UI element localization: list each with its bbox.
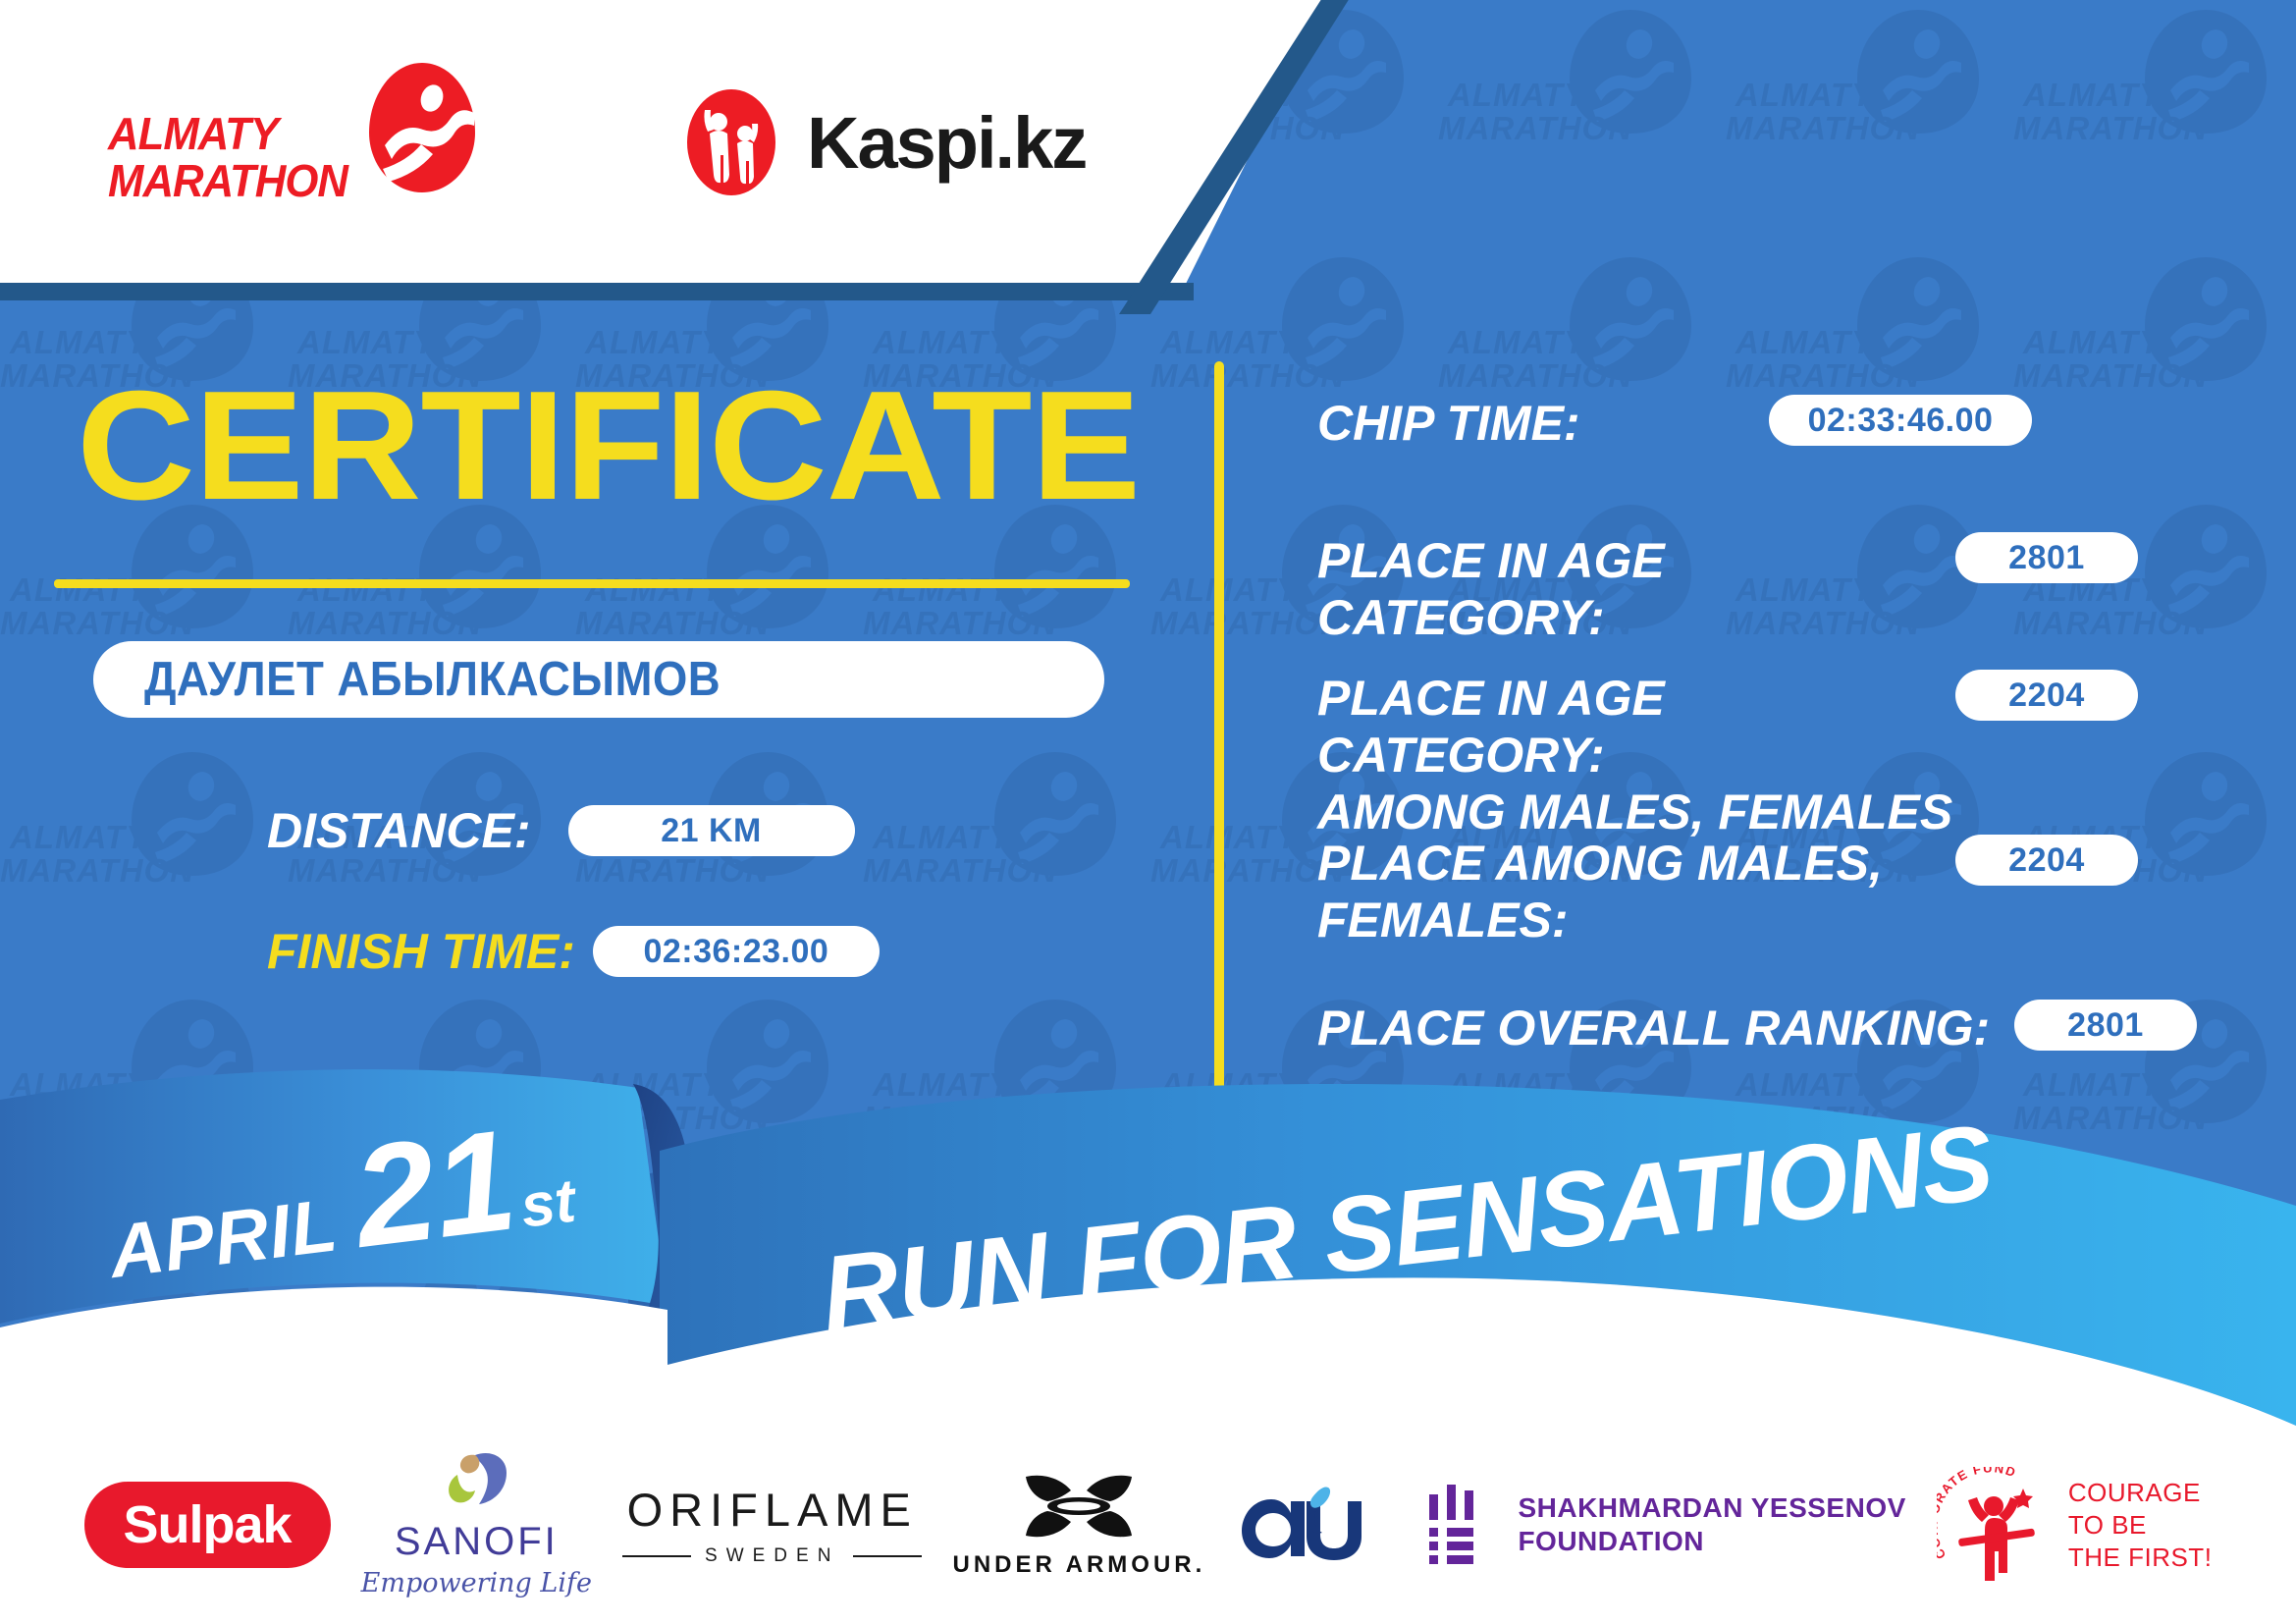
sanofi-tagline: Empowering Life: [361, 1568, 592, 1598]
sponsor-under-armour: UNDER ARMOUR.: [953, 1471, 1206, 1579]
courage-wordmark: COURAGE TO BE THE FIRST!: [2068, 1477, 2213, 1574]
place-age-category-value: 2801: [1955, 532, 2138, 583]
page-title: CERTIFICATE: [77, 368, 1140, 523]
title-underline: [54, 579, 1130, 588]
event-day: 21: [347, 1108, 522, 1270]
under-armour-icon: [1018, 1471, 1140, 1545]
distance-value: 21 KM: [568, 805, 855, 856]
oriflame-rule-right: [853, 1555, 922, 1557]
finish-time-row: FINISH TIME: 02:36:23.00: [267, 923, 880, 980]
yessenov-mark-icon: [1423, 1483, 1494, 1567]
event-day-suffix: st: [517, 1166, 579, 1242]
participant-name-field: ДАУЛЕТ АБЫЛКАСЫМОВ: [93, 641, 1104, 718]
sponsor-yessenov: SHAKHMARDAN YESSENOV FOUNDATION: [1423, 1483, 1905, 1567]
sanofi-bird-icon: [436, 1451, 516, 1516]
place-age-category-among-row: PLACE IN AGE CATEGORY: AMONG MALES, FEMA…: [1317, 670, 2138, 840]
asu-logo-icon: [1236, 1486, 1393, 1564]
place-overall-ranking-value: 2801: [2014, 1000, 2197, 1051]
oriflame-rule-left: [622, 1555, 691, 1557]
place-age-category-label: PLACE IN AGE CATEGORY:: [1317, 532, 1955, 646]
under-armour-wordmark: UNDER ARMOUR.: [953, 1551, 1206, 1579]
place-among-males-females-value: 2204: [1955, 835, 2138, 886]
place-overall-ranking-row: PLACE OVERALL RANKING: 2801: [1317, 1000, 2197, 1056]
distance-row: DISTANCE: 21 KM: [267, 802, 855, 859]
distance-label: DISTANCE:: [267, 802, 531, 859]
sulpak-logo: Sulpak: [84, 1482, 331, 1568]
chip-time-value: 02:33:46.00: [1769, 395, 2032, 446]
place-among-males-females-label: PLACE AMONG MALES, FEMALES:: [1317, 835, 1955, 948]
place-among-males-females-row: PLACE AMONG MALES, FEMALES: 2204: [1317, 835, 2138, 948]
sponsor-sanofi: SANOFI Empowering Life: [361, 1451, 592, 1598]
courage-runner-icon: CORPORATE FUND: [1937, 1467, 2053, 1583]
place-age-category-among-value: 2204: [1955, 670, 2138, 721]
oriflame-country: SWEDEN: [705, 1545, 839, 1567]
sponsor-asu: [1236, 1486, 1393, 1564]
yessenov-wordmark: SHAKHMARDAN YESSENOV FOUNDATION: [1518, 1491, 1905, 1558]
finish-time-label: FINISH TIME:: [267, 923, 575, 980]
chip-time-row: CHIP TIME: 02:33:46.00: [1317, 395, 2032, 452]
sponsor-oriflame: ORIFLAME SWEDEN: [622, 1483, 922, 1567]
oriflame-subline: SWEDEN: [622, 1545, 922, 1567]
column-divider: [1214, 361, 1224, 1103]
participant-name-value: ДАУЛЕТ АБЫЛКАСЫМОВ: [144, 652, 721, 707]
place-age-category-row: PLACE IN AGE CATEGORY: 2801: [1317, 532, 2138, 646]
finish-time-value: 02:36:23.00: [593, 926, 880, 977]
place-overall-ranking-label: PLACE OVERALL RANKING:: [1317, 1000, 2014, 1056]
chip-time-label: CHIP TIME:: [1317, 395, 1769, 452]
sanofi-wordmark: SANOFI: [395, 1520, 559, 1564]
sponsor-sulpak: Sulpak: [84, 1482, 331, 1568]
sponsor-bar: Sulpak SANOFI Empowering Life ORIFLAME S…: [0, 1426, 2296, 1624]
sponsor-courage: CORPORATE FUND COURAGE TO BE THE FIRST!: [1937, 1467, 2213, 1583]
place-age-category-among-label: PLACE IN AGE CATEGORY: AMONG MALES, FEMA…: [1317, 670, 1955, 840]
certificate-canvas: ALMATY MARATHON ALMATYMARATHON: [0, 0, 2296, 1624]
oriflame-wordmark: ORIFLAME: [627, 1483, 918, 1537]
right-column: CHIP TIME: 02:33:46.00 PLACE IN AGE CATE…: [1276, 0, 2296, 1178]
